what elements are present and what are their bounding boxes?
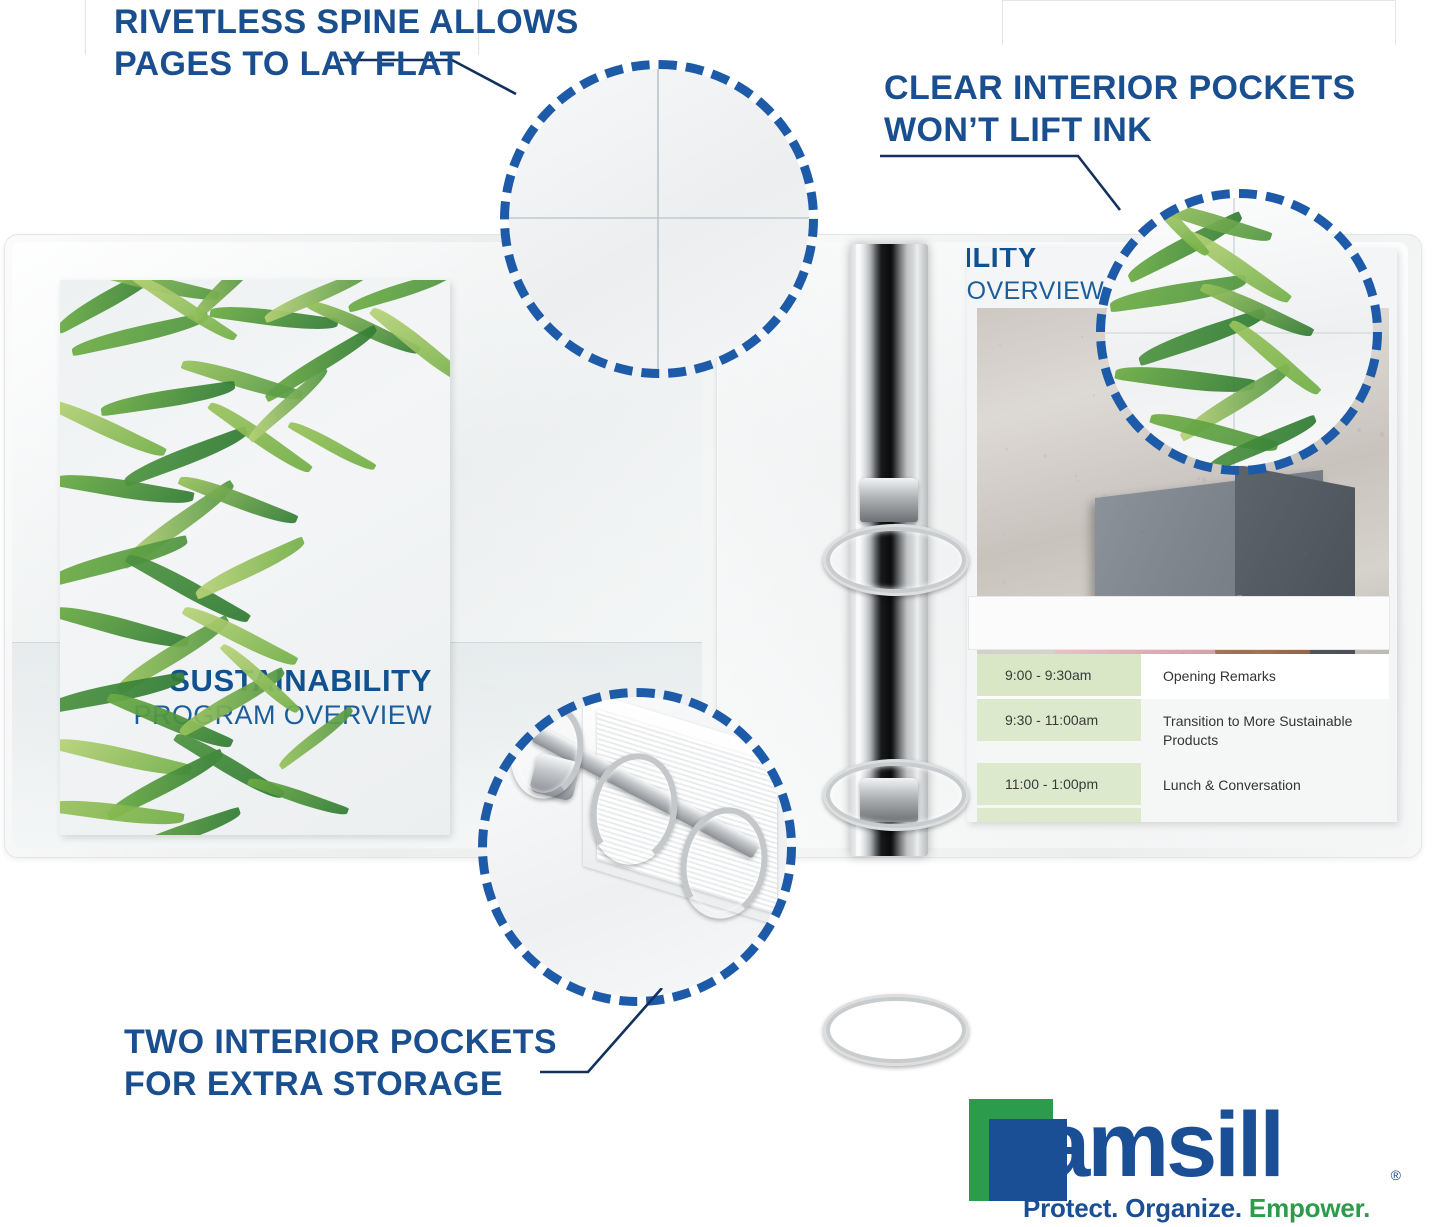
logo-wordmark: samsill (991, 1099, 1282, 1191)
schedule-item: Lunch & Conversation (1141, 763, 1389, 808)
schedule-time: 1:00 - 3:00pm (977, 808, 1141, 822)
logo-tagline-blue: Protect. Organize. (1023, 1193, 1249, 1223)
schedule-row: 9:30 - 11:00amTransition to More Sustain… (977, 699, 1389, 763)
bamboo-leaf (369, 301, 450, 390)
magnifier-clear-pocket-ring (1096, 189, 1382, 475)
callout-clear-pockets-line1: CLEAR INTERIOR POCKETS (884, 68, 1404, 110)
leader-line-top-right (880, 148, 1140, 220)
binder-ring-3 (823, 994, 969, 1066)
callout-lay-flat: RIVETLESS SPINE ALLOWS PAGES TO LAY FLAT (114, 2, 674, 86)
callout-lay-flat-line1: RIVETLESS SPINE ALLOWS (114, 2, 674, 44)
callout-two-pockets-line2: FOR EXTRA STORAGE (124, 1064, 684, 1106)
logo-registered-mark: ® (1391, 1167, 1401, 1183)
product-feature-image: SUSTAINABILITY PROGRAM OVERVIEW ABILITY … (0, 0, 1445, 1227)
schedule-item: Panel Discussion (1141, 808, 1389, 822)
schedule-time: 11:00 - 1:00pm (977, 763, 1141, 805)
logo-tagline: Protect. Organize. Empower. (1023, 1193, 1370, 1224)
schedule-item: Opening Remarks (1141, 654, 1389, 699)
loose-sheet-right-bottom (968, 596, 1390, 650)
loose-sheet-right-top (1002, 0, 1396, 45)
binder-ring-1 (823, 524, 969, 596)
callout-two-pockets: TWO INTERIOR POCKETS FOR EXTRA STORAGE (124, 1022, 684, 1106)
schedule-time: 9:30 - 11:00am (977, 699, 1141, 741)
schedule-item: Transition to More Sustainable Products (1141, 699, 1389, 763)
binder-ring-2 (823, 759, 969, 831)
schedule-table: 9:00 - 9:30amOpening Remarks9:30 - 11:00… (977, 654, 1389, 822)
magnifier-interior-pockets-ring (478, 688, 796, 1006)
samsill-logo: samsill ® Protect. Organize. Empower. (963, 1105, 1403, 1223)
callout-two-pockets-line1: TWO INTERIOR POCKETS (124, 1022, 684, 1064)
schedule-row: 9:00 - 9:30amOpening Remarks (977, 654, 1389, 699)
schedule-row: 11:00 - 1:00pmLunch & Conversation (977, 763, 1389, 808)
callout-lay-flat-line2: PAGES TO LAY FLAT (114, 44, 674, 86)
bamboo-leaf (60, 468, 194, 510)
bamboo-leaf (192, 536, 308, 599)
bamboo-leaf (247, 773, 349, 821)
magnifier-lay-flat-ring (500, 60, 818, 378)
callout-clear-pockets-line2: WON’T LIFT INK (884, 110, 1404, 152)
bamboo-leaf (346, 280, 450, 313)
callout-clear-pockets: CLEAR INTERIOR POCKETS WON’T LIFT INK (884, 68, 1404, 152)
logo-tagline-green: Empower. (1249, 1193, 1370, 1223)
schedule-time: 9:00 - 9:30am (977, 654, 1141, 696)
ring-lever-top (860, 478, 918, 522)
schedule-row: 1:00 - 3:00pmPanel Discussion (977, 808, 1389, 822)
left-cover-insert: SUSTAINABILITY PROGRAM OVERVIEW (60, 280, 450, 835)
